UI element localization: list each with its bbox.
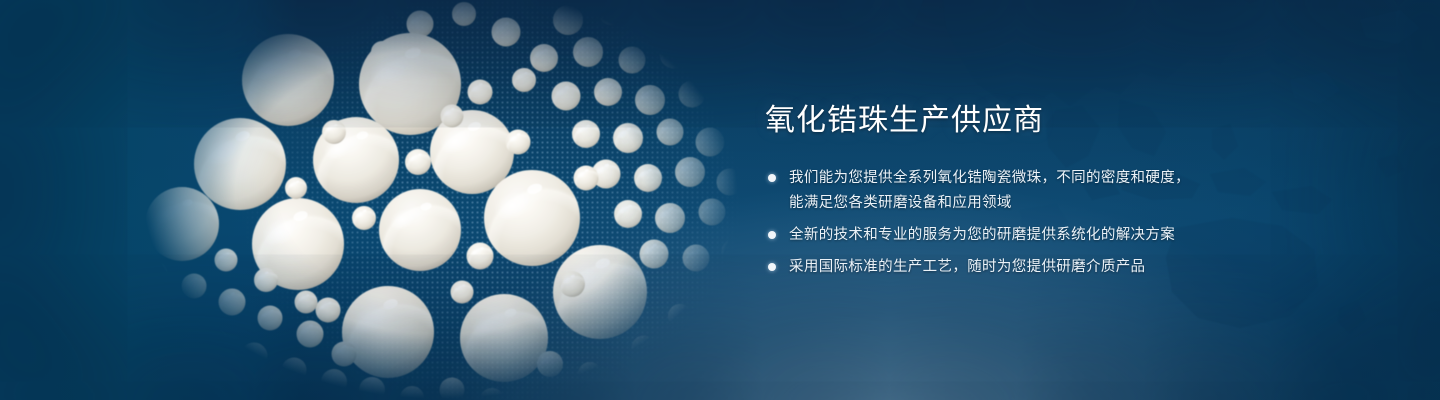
list-item-text: 采用国际标准的生产工艺，随时为您提供研磨介质产品 <box>789 259 1145 275</box>
list-item-text: 我们能为您提供全系列氧化锆陶瓷微珠，不同的密度和硬度， 能满足您各类研磨设备和应… <box>789 170 1325 216</box>
list-item-line-2: 能满足您各类研磨设备和应用领域 <box>789 191 1325 216</box>
list-item-text: 全新的技术和专业的服务为您的研磨提供系统化的解决方案 <box>789 227 1175 243</box>
list-item: 采用国际标准的生产工艺，随时为您提供研磨介质产品 <box>765 255 1325 280</box>
feature-list: 我们能为您提供全系列氧化锆陶瓷微珠，不同的密度和硬度， 能满足您各类研磨设备和应… <box>765 166 1325 280</box>
list-item-line-1: 全新的技术和专业的服务为您的研磨提供系统化的解决方案 <box>789 227 1175 243</box>
bullet-dot-icon <box>768 263 776 271</box>
bullet-dot-icon <box>768 231 776 239</box>
list-item-line-1: 采用国际标准的生产工艺，随时为您提供研磨介质产品 <box>789 259 1145 275</box>
bullet-dot-icon <box>768 174 776 182</box>
product-photo-zirconia-beads <box>120 0 760 400</box>
banner-copy: 氧化锆珠生产供应商 我们能为您提供全系列氧化锆陶瓷微珠，不同的密度和硬度， 能满… <box>765 100 1325 280</box>
list-item: 全新的技术和专业的服务为您的研磨提供系统化的解决方案 <box>765 223 1325 248</box>
page-title: 氧化锆珠生产供应商 <box>765 100 1325 142</box>
hero-banner: 氧化锆珠生产供应商 我们能为您提供全系列氧化锆陶瓷微珠，不同的密度和硬度， 能满… <box>0 0 1440 400</box>
list-item-line-1: 我们能为您提供全系列氧化锆陶瓷微珠，不同的密度和硬度， <box>789 170 1190 186</box>
list-item: 我们能为您提供全系列氧化锆陶瓷微珠，不同的密度和硬度， 能满足您各类研磨设备和应… <box>765 166 1325 216</box>
